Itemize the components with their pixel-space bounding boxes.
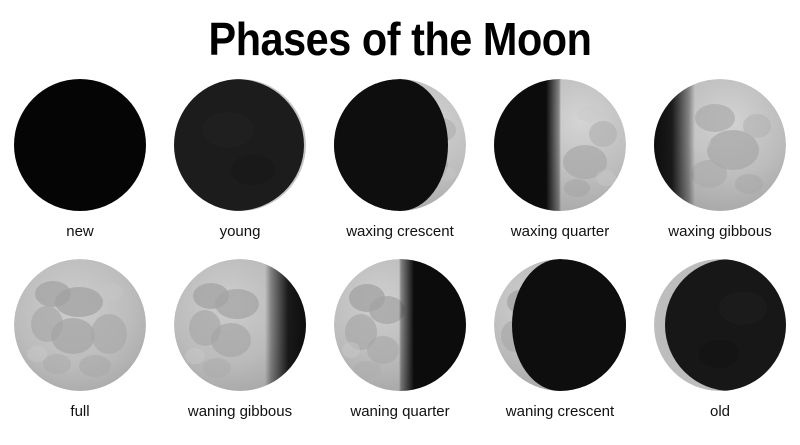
phase-label: waxing crescent <box>346 224 454 240</box>
phase-cell-waning-gibbous: waning gibbous <box>163 258 317 423</box>
moon-waning-quarter-icon <box>333 258 467 392</box>
phase-cell-new: new <box>3 78 157 243</box>
moon-phases-page: Phases of the Moon new <box>0 0 800 445</box>
moon-waning-crescent-icon <box>493 258 627 392</box>
moon-waxing-crescent <box>333 78 467 212</box>
moon-new-icon <box>13 78 147 212</box>
phase-label: waning gibbous <box>188 404 292 420</box>
moon-young-icon <box>173 78 307 212</box>
phase-row-waning: full <box>0 258 800 423</box>
phase-cell-waxing-quarter: waxing quarter <box>483 78 637 243</box>
page-title: Phases of the Moon <box>40 10 760 68</box>
moon-waxing-gibbous-icon <box>653 78 787 212</box>
moon-waxing-crescent-icon <box>333 78 467 212</box>
phase-cell-waxing-gibbous: waxing gibbous <box>643 78 797 243</box>
phase-cell-old: old <box>643 258 797 423</box>
moon-waning-quarter <box>333 258 467 392</box>
moon-old-icon <box>653 258 787 392</box>
moon-young <box>173 78 307 212</box>
moon-full-icon <box>13 258 147 392</box>
phase-label: waxing gibbous <box>668 224 771 240</box>
moon-old <box>653 258 787 392</box>
phase-label: new <box>66 224 94 240</box>
phase-label: old <box>710 404 730 420</box>
moon-waxing-gibbous <box>653 78 787 212</box>
phase-cell-young: young <box>163 78 317 243</box>
moon-waning-gibbous <box>173 258 307 392</box>
phase-cell-waning-crescent: waning crescent <box>483 258 637 423</box>
phase-row-waxing: new <box>0 78 800 243</box>
phase-label: waning quarter <box>350 404 449 420</box>
moon-full <box>13 258 147 392</box>
phase-label: full <box>70 404 89 420</box>
phase-label: young <box>220 224 261 240</box>
phase-label: waxing quarter <box>511 224 609 240</box>
phase-cell-waxing-crescent: waxing crescent <box>323 78 477 243</box>
phase-cell-full: full <box>3 258 157 423</box>
moon-waxing-quarter <box>493 78 627 212</box>
phase-label: waning crescent <box>506 404 614 420</box>
moon-waxing-quarter-icon <box>493 78 627 212</box>
moon-new <box>13 78 147 212</box>
moon-waning-crescent <box>493 258 627 392</box>
moon-waning-gibbous-icon <box>173 258 307 392</box>
phase-cell-waning-quarter: waning quarter <box>323 258 477 423</box>
